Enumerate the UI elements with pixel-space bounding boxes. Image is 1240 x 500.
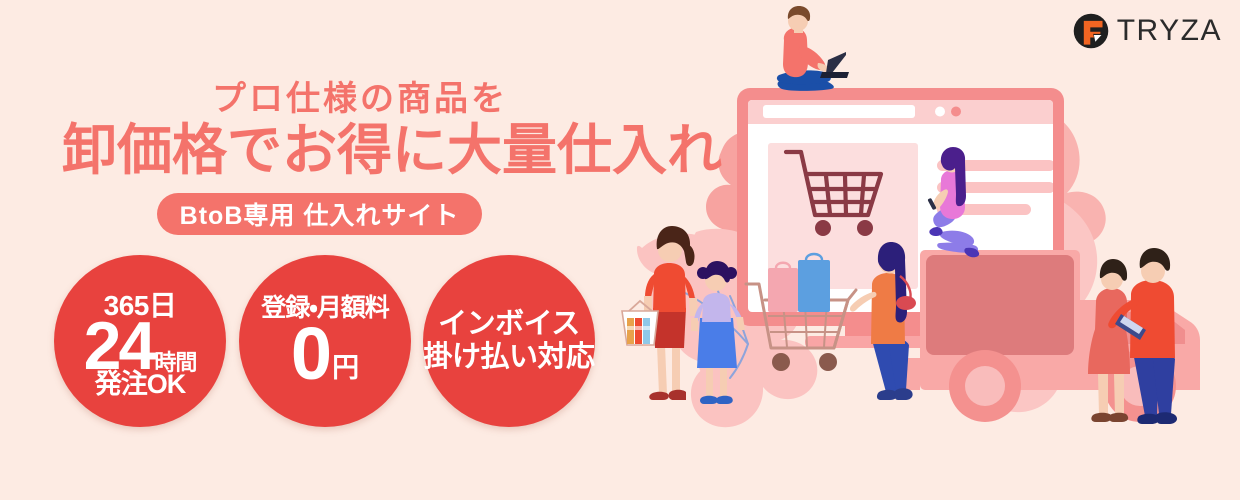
hero-copy: プロ仕様の商品を 卸価格でお得に大量仕入れ BtoB専用 仕入れサイト 365日… bbox=[0, 0, 640, 500]
badge-365-number: 24 bbox=[84, 318, 154, 376]
hero-illustration bbox=[600, 0, 1240, 500]
feature-badges: 365日 24 時間 発注OK 登録・月額料 0 円 bbox=[54, 253, 614, 433]
hero-subheadline: プロ仕様の商品を bbox=[212, 82, 508, 116]
badge-365-bottom: 発注OK bbox=[95, 371, 186, 398]
badge-zero-fee: 登録・月額料 0 円 bbox=[239, 255, 411, 427]
badge-365-24h: 365日 24 時間 発注OK bbox=[54, 255, 226, 427]
btob-site-pill: BtoB専用 仕入れサイト bbox=[157, 193, 482, 235]
badge-fee-unit: 円 bbox=[332, 355, 359, 382]
badge-invoice-line2: 掛け払い対応 bbox=[423, 341, 594, 374]
badge-fee-number: 0 bbox=[291, 323, 330, 386]
hero-headline: 卸価格でお得に大量仕入れ bbox=[62, 120, 722, 182]
brand-logo[interactable]: TRYZA bbox=[1073, 13, 1222, 49]
badge-invoice: インボイス 掛け払い対応 bbox=[423, 255, 595, 427]
brand-name: TRYZA bbox=[1117, 16, 1222, 46]
hero-banner: TRYZA プロ仕様の商品を 卸価格でお得に大量仕入れ BtoB専用 仕入れサイ… bbox=[0, 0, 1240, 500]
tryza-circle-f-logo-icon bbox=[1073, 13, 1109, 49]
badge-invoice-line1: インボイス bbox=[438, 308, 580, 341]
